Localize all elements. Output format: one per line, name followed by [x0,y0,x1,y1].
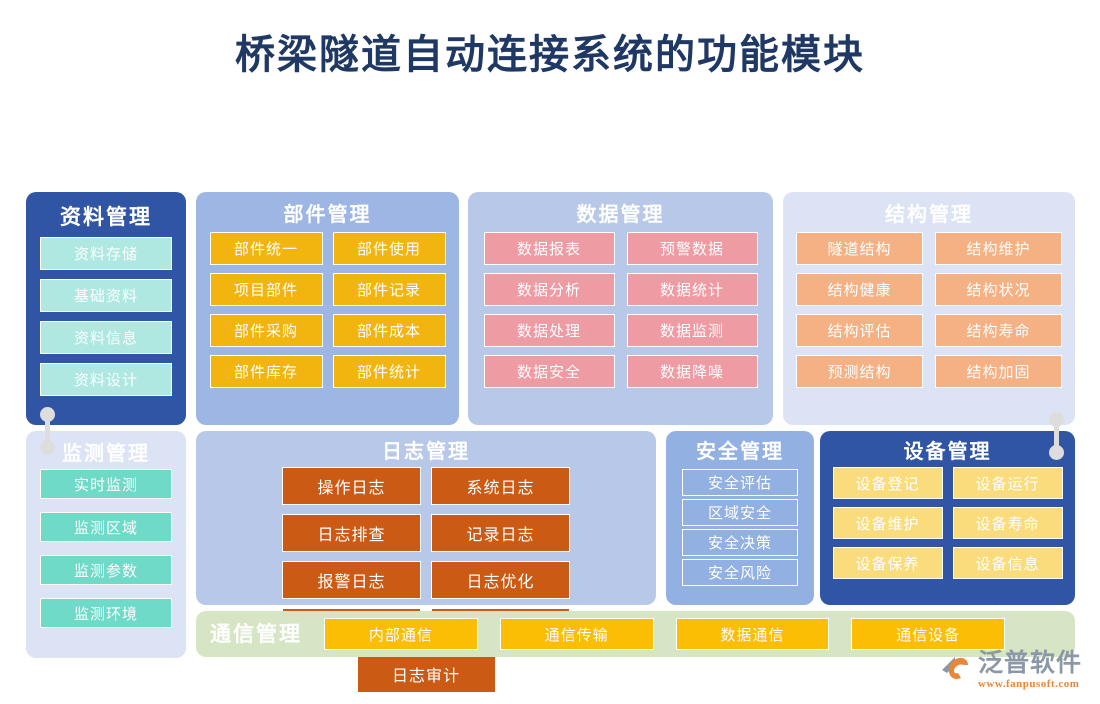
panel-device-mgmt[interactable]: 设备管理 设备登记 设备运行 设备维护 设备寿命 设备保养 设备信息 [820,431,1075,605]
module-item[interactable]: 日志优化 [431,561,570,599]
module-item[interactable]: 设备寿命 [953,507,1063,539]
logo-name: 泛普软件 [978,650,1082,675]
panel-title-safety-mgmt: 安全管理 [666,431,814,463]
module-item[interactable]: 操作日志 [282,467,421,505]
panel-title-comm-mgmt: 通信管理 [210,621,302,646]
page-title: 桥梁隧道自动连接系统的功能模块 [0,0,1100,94]
module-item[interactable]: 记录日志 [431,514,570,552]
module-item[interactable]: 部件统一 [210,232,323,265]
module-item[interactable]: 结构健康 [796,273,923,306]
panel-monitor-mgmt[interactable]: 监测管理 实时监测 监测区域 监测参数 监测环境 [26,431,186,658]
module-item[interactable]: 数据安全 [484,355,615,388]
module-item[interactable]: 数据报表 [484,232,615,265]
swoosh-logo-icon [938,653,972,687]
module-item[interactable]: 设备信息 [953,547,1063,579]
module-item[interactable]: 结构状况 [935,273,1062,306]
module-item[interactable]: 安全风险 [682,559,798,586]
module-item[interactable]: 预警数据 [627,232,758,265]
panel-data2-mgmt[interactable]: 数据管理 数据报表 预警数据 数据分析 数据统计 数据处理 数据监测 数据安全 … [468,192,773,425]
module-item[interactable]: 结构评估 [796,314,923,347]
module-item[interactable]: 项目部件 [210,273,323,306]
module-item[interactable]: 资料存储 [40,237,172,270]
module-item[interactable]: 部件采购 [210,314,323,347]
connector-dot-top [40,407,55,422]
panel-items-part-mgmt: 部件统一 部件使用 项目部件 部件记录 部件采购 部件成本 部件库存 部件统计 [196,226,459,388]
module-item[interactable]: 设备维护 [833,507,943,539]
panel-title-log-mgmt: 日志管理 [196,431,656,463]
connector-dot-top [1049,412,1064,427]
module-item[interactable]: 结构加固 [935,355,1062,388]
module-item[interactable]: 部件库存 [210,355,323,388]
connector-dot-bottom [40,440,55,455]
panel-log-mgmt[interactable]: 日志管理 操作日志 系统日志 日志排查 记录日志 报警日志 日志优化 设备日志 … [196,431,656,605]
module-item[interactable]: 系统日志 [431,467,570,505]
module-item[interactable]: 部件记录 [333,273,446,306]
module-item[interactable]: 数据通信 [676,618,830,650]
logo-text-wrap: 泛普软件 www.fanpusoft.com [978,650,1082,690]
module-item[interactable]: 日志审计 [357,655,496,693]
module-item[interactable]: 报警日志 [282,561,421,599]
module-item[interactable]: 日志排查 [282,514,421,552]
module-item[interactable]: 通信传输 [500,618,654,650]
panel-title-data-mgmt: 资料管理 [26,192,186,229]
panel-items-comm-mgmt: 内部通信 通信传输 数据通信 通信设备 [324,618,1061,650]
module-item[interactable]: 结构维护 [935,232,1062,265]
panel-title-data2-mgmt: 数据管理 [468,192,773,226]
panel-items-monitor-mgmt: 实时监测 监测区域 监测参数 监测环境 [26,465,186,628]
module-item[interactable]: 隧道结构 [796,232,923,265]
module-item[interactable]: 预测结构 [796,355,923,388]
module-item[interactable]: 资料设计 [40,363,172,396]
module-item[interactable]: 安全评估 [682,469,798,496]
connector-pin-right-icon [1047,412,1067,460]
panel-items-safety-mgmt: 安全评估 区域安全 安全决策 安全风险 [666,463,814,586]
panel-part-mgmt[interactable]: 部件管理 部件统一 部件使用 项目部件 部件记录 部件采购 部件成本 部件库存 … [196,192,459,425]
module-item[interactable]: 部件使用 [333,232,446,265]
panel-items-data-mgmt: 资料存储 基础资料 资料信息 资料设计 [26,229,186,396]
panel-safety-mgmt[interactable]: 安全管理 安全评估 区域安全 安全决策 安全风险 [666,431,814,605]
module-item[interactable]: 数据统计 [627,273,758,306]
module-item[interactable]: 内部通信 [324,618,478,650]
module-item[interactable]: 区域安全 [682,499,798,526]
module-item[interactable]: 设备登记 [833,467,943,499]
panel-title-struct-mgmt: 结构管理 [783,192,1075,226]
module-item[interactable]: 安全决策 [682,529,798,556]
module-item[interactable]: 资料信息 [40,321,172,354]
module-item[interactable]: 监测环境 [40,598,172,628]
module-item[interactable]: 数据降噪 [627,355,758,388]
panel-title-device-mgmt: 设备管理 [820,431,1075,463]
module-item[interactable]: 设备保养 [833,547,943,579]
panel-title-part-mgmt: 部件管理 [196,192,459,226]
module-item[interactable]: 通信设备 [851,618,1005,650]
connector-pin-left-icon [38,407,58,455]
module-item[interactable]: 实时监测 [40,469,172,499]
module-item[interactable]: 数据监测 [627,314,758,347]
panel-items-log-mgmt: 操作日志 系统日志 日志排查 记录日志 报警日志 日志优化 设备日志 日志故障 … [196,463,656,693]
module-item[interactable]: 部件统计 [333,355,446,388]
panel-struct-mgmt[interactable]: 结构管理 隧道结构 结构维护 结构健康 结构状况 结构评估 结构寿命 预测结构 … [783,192,1075,425]
module-item[interactable]: 结构寿命 [935,314,1062,347]
panel-items-struct-mgmt: 隧道结构 结构维护 结构健康 结构状况 结构评估 结构寿命 预测结构 结构加固 [783,226,1075,388]
diagram-canvas: 资料管理 资料存储 基础资料 资料信息 资料设计 部件管理 部件统一 部件使用 … [0,94,1100,704]
module-item[interactable]: 监测区域 [40,512,172,542]
module-item[interactable]: 基础资料 [40,279,172,312]
panel-data-mgmt[interactable]: 资料管理 资料存储 基础资料 资料信息 资料设计 [26,192,186,425]
panel-items-data2-mgmt: 数据报表 预警数据 数据分析 数据统计 数据处理 数据监测 数据安全 数据降噪 [468,226,773,388]
module-item[interactable]: 设备运行 [953,467,1063,499]
panel-items-device-mgmt: 设备登记 设备运行 设备维护 设备寿命 设备保养 设备信息 [820,463,1075,579]
module-item[interactable]: 部件成本 [333,314,446,347]
module-item[interactable]: 监测参数 [40,555,172,585]
logo-url: www.fanpusoft.com [978,678,1082,690]
module-item[interactable]: 数据处理 [484,314,615,347]
module-item[interactable]: 数据分析 [484,273,615,306]
connector-dot-bottom [1049,445,1064,460]
footer-logo: 泛普软件 www.fanpusoft.com [938,650,1082,690]
